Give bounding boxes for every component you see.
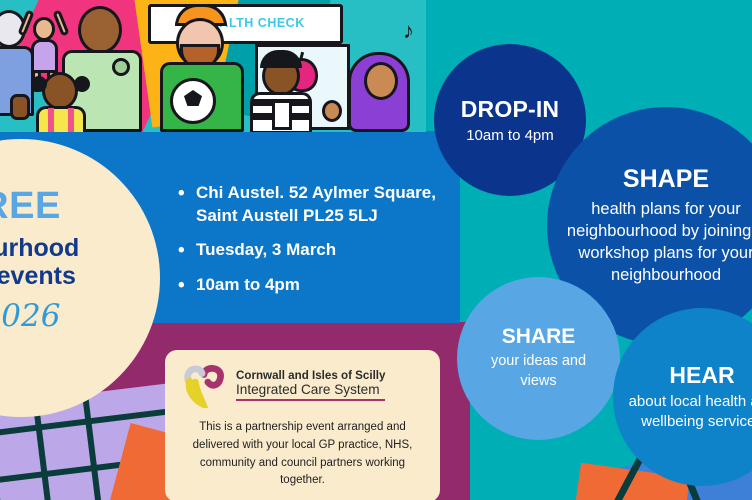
person-4-hair-bun-left — [31, 76, 47, 92]
list-item: 10am to 4pm — [176, 274, 446, 297]
hear-subtext: about local health and wellbeing service… — [617, 392, 752, 433]
events-heading-line1: bourhood — [0, 234, 160, 262]
shape-subtext: health plans for your neighbourhood by j… — [559, 199, 752, 287]
partnership-card: Cornwall and Isles of Scilly Integrated … — [165, 350, 440, 500]
person-4-body — [36, 106, 86, 132]
person-2-head — [33, 17, 55, 41]
music-note-icon: ♪ — [403, 18, 414, 44]
share-subtext: your ideas and views — [474, 352, 604, 391]
person-4-hair-bun-right — [74, 76, 90, 92]
stethoscope-icon — [112, 58, 130, 76]
person-8-head — [322, 100, 342, 122]
ics-logo: Cornwall and Isles of Scilly Integrated … — [179, 362, 426, 408]
drop-in-heading: DROP-IN — [461, 96, 560, 123]
ics-logo-line2: Integrated Care System — [236, 382, 385, 397]
event-details-list: Chi Austel. 52 Aylmer Square, Saint Aust… — [176, 182, 446, 308]
ics-logo-rule — [236, 399, 385, 401]
person-4-strap-right — [68, 108, 74, 132]
partnership-text: This is a partnership event arranged and… — [179, 419, 426, 490]
free-label: REE — [0, 187, 160, 225]
hear-heading: HEAR — [669, 362, 734, 389]
person-7-head — [364, 62, 398, 100]
ics-logo-line1: Cornwall and Isles of Scilly — [236, 369, 385, 382]
shape-heading: SHAPE — [623, 165, 709, 194]
drink-cup-icon — [272, 100, 292, 130]
person-4-strap-left — [48, 108, 54, 132]
events-heading-line2: th events — [0, 262, 160, 290]
illustration-banner: E HEALTH CHECK — [0, 0, 426, 132]
list-item: Tuesday, 3 March — [176, 239, 446, 262]
share-heading: SHARE — [502, 325, 576, 349]
year-label: 2026 — [0, 298, 160, 334]
heart-logo-icon — [181, 362, 227, 408]
list-item: Chi Austel. 52 Aylmer Square, Saint Aust… — [176, 182, 446, 227]
drop-in-subtext: 10am to 4pm — [466, 127, 554, 144]
person-4-head — [42, 72, 78, 110]
poster-canvas: E HEALTH CHECK — [0, 0, 752, 500]
person-3-head — [78, 6, 122, 54]
peace-hand-icon — [10, 94, 30, 120]
share-circle: SHARE your ideas and views — [457, 277, 620, 440]
person-2-body — [31, 39, 58, 73]
